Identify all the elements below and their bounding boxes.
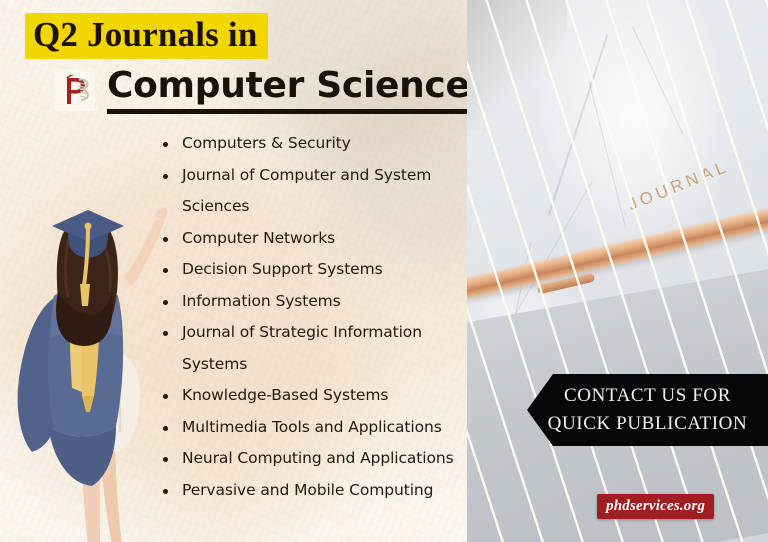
left-content-panel: Q2 Journals in Computer Science Computer… <box>0 0 467 542</box>
contact-cta-banner[interactable]: CONTACT US FOR QUICK PUBLICATION <box>527 374 768 446</box>
phdservices-logo-icon <box>55 69 95 111</box>
list-item: Decision Support Systems <box>158 254 458 286</box>
list-item: Computers & Security <box>158 128 458 160</box>
photo-corner-shadow <box>467 0 567 130</box>
cta-line-2: QUICK PUBLICATION <box>548 410 748 438</box>
list-item: Computer Networks <box>158 223 458 255</box>
subtitle-row: Computer Science <box>55 66 467 114</box>
journal-list: Computers & Security Journal of Computer… <box>158 128 458 506</box>
list-item: Knowledge-Based Systems <box>158 380 458 412</box>
cta-line-1: CONTACT US FOR <box>564 382 731 410</box>
website-badge[interactable]: phdservices.org <box>597 494 714 519</box>
right-photo-panel: JOURNAL <box>467 0 768 542</box>
list-item: Journal of Strategic Information Systems <box>158 317 458 380</box>
eyebrow-title: Q2 Journals in <box>25 13 268 59</box>
list-item: Multimedia Tools and Applications <box>158 412 458 444</box>
list-item: Information Systems <box>158 286 458 318</box>
page-title: Computer Science <box>107 66 467 114</box>
list-item: Pervasive and Mobile Computing <box>158 475 458 507</box>
list-item: Neural Computing and Applications <box>158 443 458 475</box>
journal-promo-poster: Q2 Journals in Computer Science Computer… <box>0 0 768 542</box>
list-item: Journal of Computer and System Sciences <box>158 160 458 223</box>
